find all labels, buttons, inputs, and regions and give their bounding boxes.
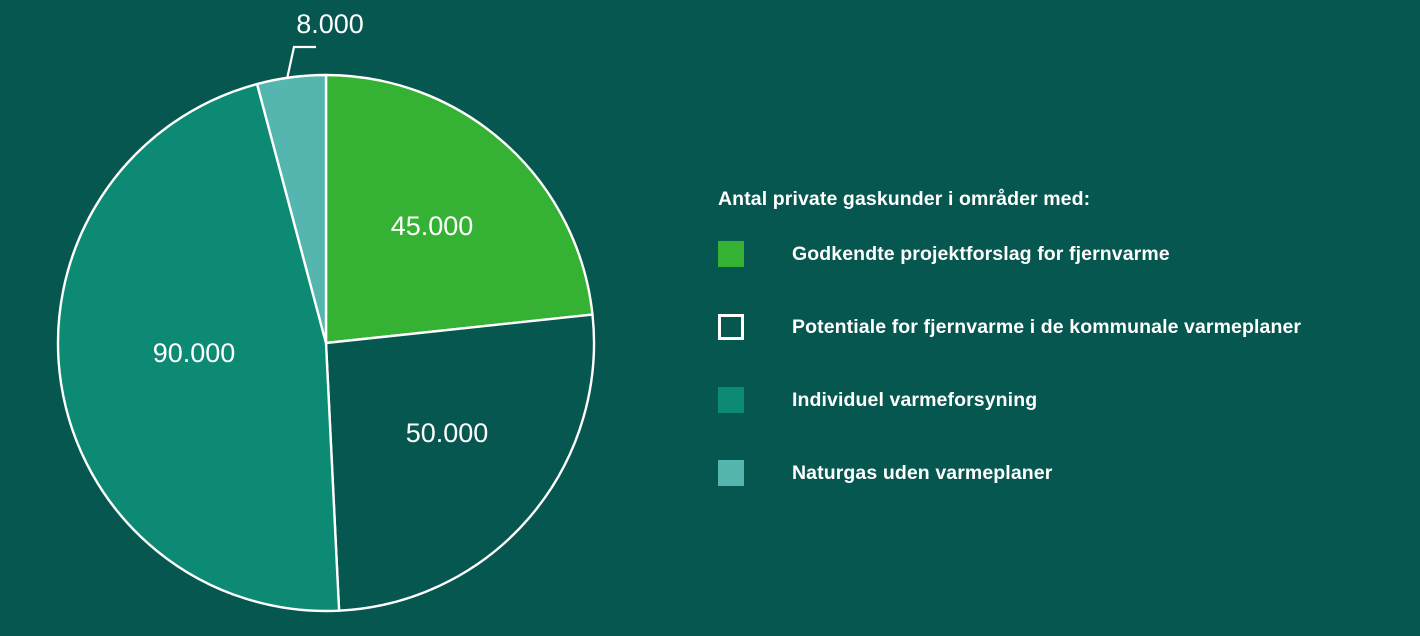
- legend-label-potentiale: Potentiale for fjernvarme i de kommunale…: [792, 318, 1301, 338]
- legend-title: Antal private gaskunder i områder med:: [718, 188, 1398, 211]
- swatch-potentiale: [718, 314, 744, 340]
- pie-chart-area: 45.00050.00090.0008.000: [0, 0, 700, 636]
- pie-slice-value-label-2: 50.000: [406, 418, 489, 448]
- pie-slice-value-label-1: 45.000: [391, 211, 474, 241]
- pie-slices: [58, 75, 594, 611]
- pie-slice-value-label-4: 8.000: [296, 9, 364, 39]
- pie-chart-figure: 45.00050.00090.0008.000 Antal private ga…: [0, 0, 1420, 636]
- legend-label-naturgas: Naturgas uden varmeplaner: [792, 464, 1052, 484]
- pie-chart-svg: 45.00050.00090.0008.000: [0, 0, 700, 636]
- swatch-godkendte: [718, 241, 744, 267]
- pie-slice-2[interactable]: [326, 315, 594, 611]
- pie-slice-1[interactable]: [326, 75, 592, 343]
- swatch-individuel: [718, 387, 744, 413]
- legend-label-individuel: Individuel varmeforsyning: [792, 391, 1037, 411]
- legend: Antal private gaskunder i områder med: G…: [718, 188, 1398, 488]
- legend-label-godkendte: Godkendte projektforslag for fjernvarme: [792, 245, 1170, 265]
- legend-item-potentiale[interactable]: Potentiale for fjernvarme i de kommunale…: [718, 312, 1398, 342]
- pie-slice-value-label-3: 90.000: [153, 338, 236, 368]
- swatch-naturgas: [718, 460, 744, 486]
- legend-item-individuel[interactable]: Individuel varmeforsyning: [718, 385, 1398, 415]
- legend-item-godkendte[interactable]: Godkendte projektforslag for fjernvarme: [718, 239, 1398, 269]
- legend-item-naturgas[interactable]: Naturgas uden varmeplaner: [718, 458, 1398, 488]
